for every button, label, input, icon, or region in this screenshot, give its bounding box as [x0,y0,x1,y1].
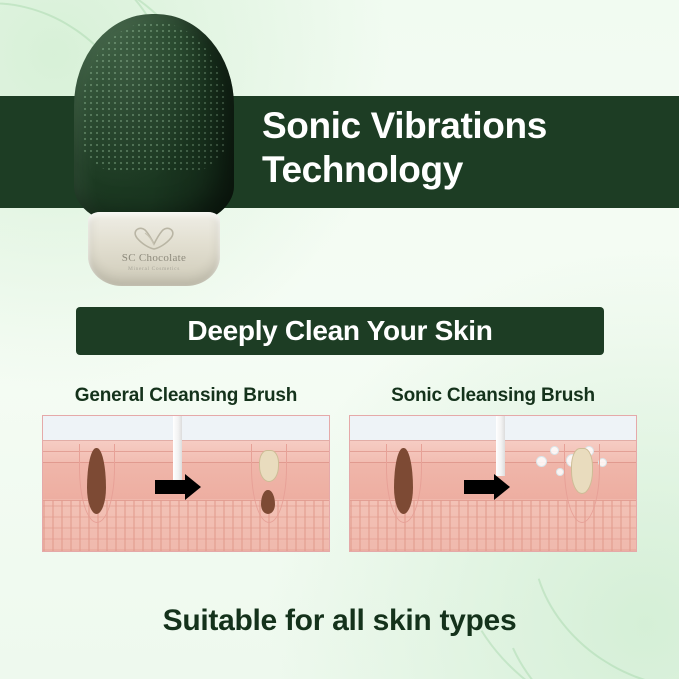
pore-plug-dirt [87,448,106,514]
bubble-icon [556,468,564,476]
page-title: Sonic Vibrations Technology [262,104,672,191]
bubble-icon [536,456,547,467]
headline-line-1: Sonic Vibrations [262,105,547,146]
heart-logo-icon [131,224,177,250]
brand-tagline: Mineral Cosmetics [88,266,220,272]
comparison-panel-general: General Cleansing Brush [42,385,330,552]
pore-residue-upper [259,450,279,482]
skin-cross-section-sonic [349,415,637,552]
brand-name: SC Chocolate [88,252,220,264]
subtitle-text: Deeply Clean Your Skin [187,315,492,347]
brush-head [74,14,234,226]
footer-caption: Suitable for all skin types [0,604,679,638]
comparison-section: General Cleansing Brush [0,385,679,565]
pore-plug-remaining [261,490,275,514]
extracted-debris [571,448,593,494]
comparison-panel-sonic: Sonic Cleansing Brush [349,385,637,552]
brush-head-shading [74,14,234,226]
product-image-facial-brush: SC Chocolate Mineral Cosmetics [74,14,234,286]
brush-base: SC Chocolate Mineral Cosmetics [88,212,220,286]
subtitle-banner: Deeply Clean Your Skin [76,307,604,355]
skin-cross-section-general [42,415,330,552]
panel-title-sonic: Sonic Cleansing Brush [349,385,637,407]
pore-plug-dirt [394,448,413,514]
arrow-sonic-icon [464,474,510,500]
arrow-general-icon [155,474,201,500]
brush-probe [496,416,505,476]
bubble-icon [550,446,559,455]
product-infographic: Sonic Vibrations Technology SC Chocolate… [0,0,679,679]
panel-title-general: General Cleansing Brush [42,385,330,407]
brush-probe [173,416,182,480]
headline-line-2: Technology [262,148,672,192]
